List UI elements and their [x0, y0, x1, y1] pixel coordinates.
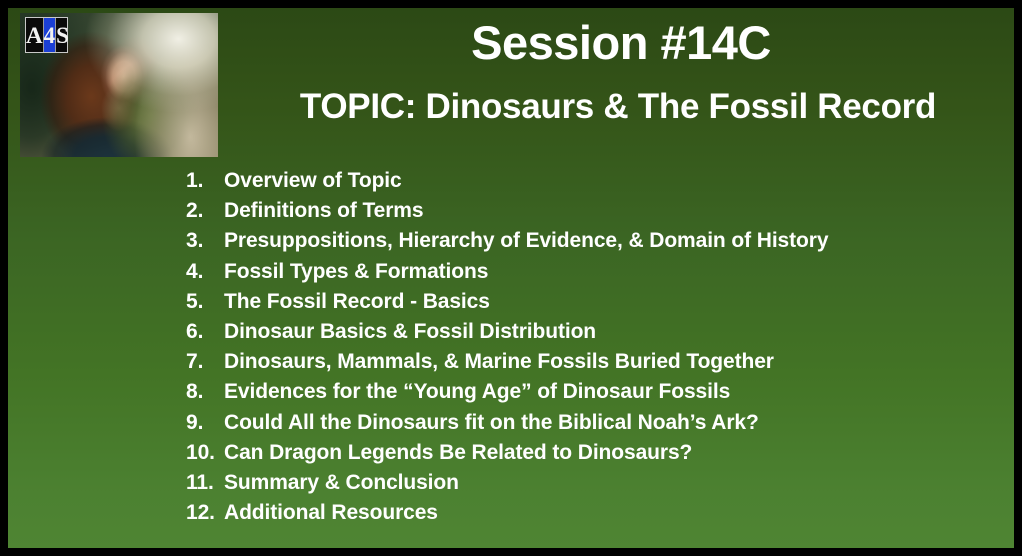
- list-item-label: Dinosaur Basics & Fossil Distribution: [224, 317, 986, 347]
- list-item: 2. Definitions of Terms: [186, 196, 986, 226]
- list-item-number: 7.: [186, 347, 224, 377]
- list-item-number: 5.: [186, 287, 224, 317]
- list-item: 12. Additional Resources: [186, 498, 986, 528]
- list-item-number: 2.: [186, 196, 224, 226]
- list-item-number: 11.: [186, 468, 224, 498]
- speaker-photo: A 4 S: [20, 13, 218, 157]
- list-item-label: Could All the Dinosaurs fit on the Bibli…: [224, 408, 986, 438]
- list-item-label: Overview of Topic: [224, 166, 986, 196]
- presentation-slide: A 4 S Session #14C TOPIC: Dinosaurs & Th…: [0, 0, 1022, 556]
- list-item: 11. Summary & Conclusion: [186, 468, 986, 498]
- list-item: 1. Overview of Topic: [186, 166, 986, 196]
- list-item: 7. Dinosaurs, Mammals, & Marine Fossils …: [186, 347, 986, 377]
- list-item-number: 12.: [186, 498, 224, 528]
- slide-title: Session #14C: [236, 18, 1006, 67]
- logo-letter-a: A: [26, 18, 43, 52]
- list-item-label: Evidences for the “Young Age” of Dinosau…: [224, 377, 986, 407]
- list-item: 3. Presuppositions, Hierarchy of Evidenc…: [186, 226, 986, 256]
- list-item-label: Definitions of Terms: [224, 196, 986, 226]
- agenda-list: 1. Overview of Topic 2. Definitions of T…: [186, 166, 986, 528]
- list-item-number: 10.: [186, 438, 224, 468]
- list-item-number: 3.: [186, 226, 224, 256]
- list-item: 9. Could All the Dinosaurs fit on the Bi…: [186, 408, 986, 438]
- list-item-number: 8.: [186, 377, 224, 407]
- a4s-logo: A 4 S: [25, 17, 68, 53]
- list-item-label: Summary & Conclusion: [224, 468, 986, 498]
- list-item: 5. The Fossil Record - Basics: [186, 287, 986, 317]
- logo-letter-4: 4: [43, 18, 57, 52]
- list-item-label: Fossil Types & Formations: [224, 257, 986, 287]
- list-item-number: 1.: [186, 166, 224, 196]
- list-item-label: The Fossil Record - Basics: [224, 287, 986, 317]
- slide-content-area: A 4 S Session #14C TOPIC: Dinosaurs & Th…: [8, 8, 1014, 548]
- list-item: 10. Can Dragon Legends Be Related to Din…: [186, 438, 986, 468]
- list-item-label: Additional Resources: [224, 498, 986, 528]
- list-item: 4. Fossil Types & Formations: [186, 257, 986, 287]
- list-item: 8. Evidences for the “Young Age” of Dino…: [186, 377, 986, 407]
- slide-subtitle: TOPIC: Dinosaurs & The Fossil Record: [230, 88, 1006, 127]
- list-item-label: Presuppositions, Hierarchy of Evidence, …: [224, 226, 986, 256]
- list-item-number: 9.: [186, 408, 224, 438]
- list-item-number: 6.: [186, 317, 224, 347]
- list-item: 6. Dinosaur Basics & Fossil Distribution: [186, 317, 986, 347]
- list-item-label: Can Dragon Legends Be Related to Dinosau…: [224, 438, 986, 468]
- list-item-label: Dinosaurs, Mammals, & Marine Fossils Bur…: [224, 347, 986, 377]
- logo-letter-s: S: [56, 18, 69, 52]
- list-item-number: 4.: [186, 257, 224, 287]
